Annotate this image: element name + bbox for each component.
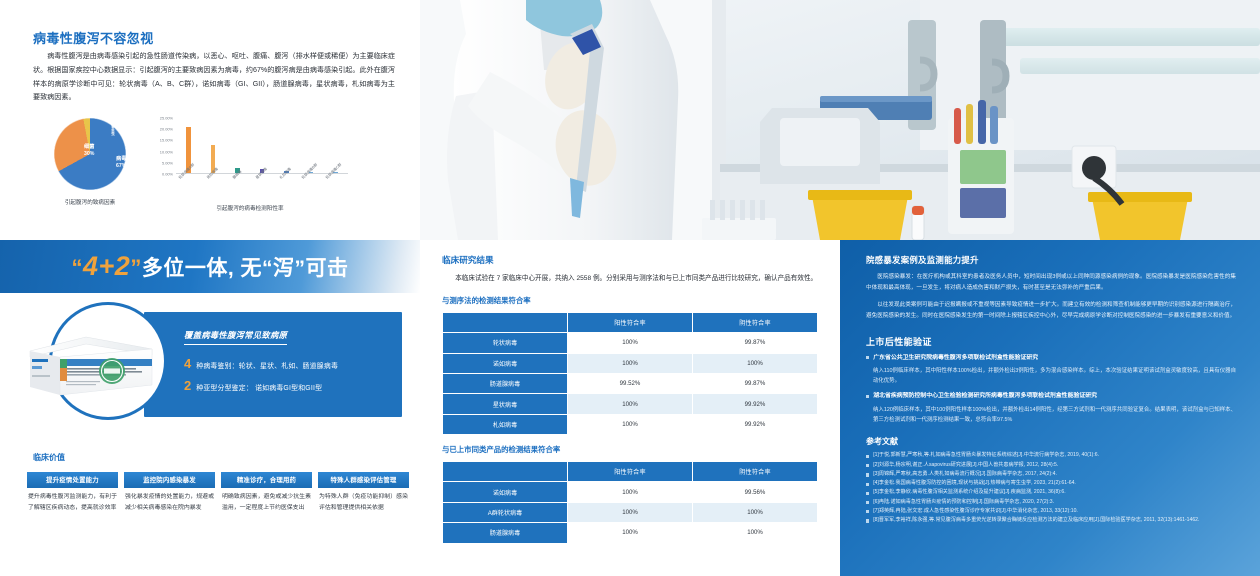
banner-quote-close-2: ”: [295, 257, 306, 280]
bar-chart-plot: [176, 118, 348, 174]
product-feature-number: 2: [184, 379, 191, 392]
table-row-header: 星状病毒: [443, 394, 567, 413]
pie-slice-label-bacteria: 细菌30%: [84, 144, 94, 157]
reference-text: [8]晋军军,李裕祥,陈永强,等.常见腹泻病毒多重荧光逆转录聚合酶链反应检测方法…: [873, 517, 1199, 525]
square-bullet-icon: [866, 510, 869, 513]
table-cell-negative: 100%: [693, 503, 817, 522]
validation-heading: 广东省公共卫生研究院病毒性腹泻多项联检试剂盒性能验证研究: [873, 354, 1038, 363]
headline-banner: “4+2”多位一体, 无“泻”可击: [0, 240, 420, 293]
reference-item: [3]周锦辉,严寒秋,高志勇.人类札如病毒流行概况[J].国际病毒学杂志, 20…: [866, 471, 1236, 479]
table-row-header: 肠道腺病毒: [443, 523, 567, 542]
bar-chart-x-label-cell: 腺病毒: [230, 176, 244, 202]
clinical-value-card-body: 提升病毒性腹泻监测能力，有利于了解辖区疾病动态，提高就诊效率: [27, 488, 118, 514]
validation-bullet-row: 广东省公共卫生研究院病毒性腹泻多项联检试剂盒性能验证研究: [866, 354, 1236, 363]
product-feature-row: 2 种亚型分型鉴定： 诺如病毒GI型和GII型: [184, 379, 322, 392]
clinical-value-card-header: 监控院内感染暴发: [124, 472, 215, 488]
square-bullet-icon: [866, 395, 869, 398]
table-cell-positive: 100%: [568, 503, 692, 522]
article-body: 病毒性腹泻是由病毒感染引起的急性肠道传染病，以恶心、呕吐、腹痛、腹泻（排水样便或…: [33, 50, 395, 105]
bar-chart-caption: 引起腹泻的病毒检测阳性率: [150, 204, 350, 212]
clinical-results-panel: 临床研究结果 本临床试验在 7 家临床中心开展，共纳入 2558 例。分别采用与…: [420, 240, 840, 576]
clinical-value-card: 监控院内感染暴发强化暴发疫情的处置能力，规避或减少相关病毒感染在院内暴发: [124, 472, 215, 514]
bar-chart-column: [206, 118, 220, 173]
table-cell-negative: 99.56%: [693, 482, 817, 501]
pie-slice-label-virus: 病毒67%: [116, 156, 126, 169]
validation-body: 纳入110例临床样本，其中阳性样本100%检出，并额外检出3例阳性，多为混合感染…: [873, 366, 1236, 386]
product-feature-number: 4: [184, 357, 191, 370]
validation-item: 湖北省疾病预防控制中心卫生检验检测研究所病毒性腹泻多项联检试剂盒性能验证研究纳入…: [866, 392, 1236, 425]
table-row-header: 轮状病毒: [443, 333, 567, 352]
bar-chart-y-axis: 0.00%5.00%10.00%15.00%20.00%25.00%: [150, 118, 174, 174]
table-row: 诺如病毒100%100%: [443, 354, 817, 373]
hai-paragraph-1: 医院感染暴发：在医疗机构或其科室的患者及医务人员中，短时间出现3例或以上同种同源…: [866, 272, 1236, 294]
table-header-row: 阳性符合率阴性符合率: [443, 462, 817, 481]
bar-chart-y-tick: 5.00%: [162, 160, 173, 165]
table-cell-positive: 100%: [568, 394, 692, 413]
clinical-value-card-body: 为特殊人群（免疫功能抑制）感染评估和管理提供相关依据: [318, 488, 409, 514]
square-bullet-icon: [866, 356, 869, 359]
table-row: A群轮状病毒100%100%: [443, 503, 817, 522]
table-row-header: 诺如病毒: [443, 482, 567, 501]
square-bullet-icon: [866, 455, 869, 458]
square-bullet-icon: [866, 464, 869, 467]
table-row-header: 诺如病毒: [443, 354, 567, 373]
reference-text: [6]冉陆.诺如病毒急性胃肠炎疫情的预防和控制[J].国际病毒学杂志, 2020…: [873, 499, 1054, 507]
banner-plus: +: [99, 251, 115, 281]
table-cell-positive: 100%: [568, 415, 692, 434]
table-row: 肠道腺病毒100%100%: [443, 523, 817, 542]
validation-title: 上市后性能验证: [866, 335, 1236, 348]
validation-bullet-row: 湖北省疾病预防控制中心卫生检验检测研究所病毒性腹泻多项联检试剂盒性能验证研究: [866, 392, 1236, 401]
pie-chart-caption: 引起腹泻的致病因素: [32, 198, 148, 206]
bar-chart-column: [230, 118, 244, 173]
square-bullet-icon: [866, 519, 869, 522]
hai-panel: 院感暴发案例及监测能力提升 医院感染暴发：在医疗机构或其科室的患者及医务人员中，…: [840, 240, 1260, 576]
table-cell-negative: 99.92%: [693, 394, 817, 413]
clinical-value-card: 特殊人群感染评估管理为特殊人群（免疫功能抑制）感染评估和管理提供相关依据: [318, 472, 409, 514]
table-cell-negative: 100%: [693, 354, 817, 373]
table-row: 肠道腺病毒99.52%99.87%: [443, 374, 817, 393]
reference-text: [5]李金松,李静欣.病毒性腹泻相关监测系统介绍及提升建议[J].疾病监测, 2…: [873, 489, 1065, 497]
table-cell-positive: 100%: [568, 354, 692, 373]
table-corner-cell: [443, 313, 567, 332]
clinical-value-card-body: 明确致病因素，避免或减少抗生素滥用，一定程度上节约医保支出: [221, 488, 312, 514]
clinical-value-cards: 提升疫情处置能力提升病毒性腹泻监测能力，有利于了解辖区疾病动态，提高就诊效率监控…: [27, 472, 412, 514]
validation-body: 纳入120例临床样本，其中100例阳性样本100%检出，并额外检出14例阳性，经…: [873, 405, 1236, 425]
table-column-header: 阳性符合率: [568, 313, 692, 332]
pie-slice-label-parasite: 寄生虫: [110, 125, 113, 135]
sequencing-concordance-table: 阳性符合率阴性符合率轮状病毒100%99.87%诺如病毒100%100%肠道腺病…: [442, 312, 818, 435]
clinical-value-card-header: 精准诊疗，合理用药: [221, 472, 312, 488]
references-title: 参考文献: [866, 436, 1236, 447]
product-feature-row: 4 种病毒鉴别：轮状、星状、札如、肠道腺病毒: [184, 357, 338, 370]
reference-item: [7]郑英辉,冉陆,张文宏.成人急性感染性腹泻诊疗专家共识[J].中华消化杂志,…: [866, 508, 1236, 516]
table-header-row: 阳性符合率阴性符合率: [443, 313, 817, 332]
laboratory-photo: [420, 0, 1260, 240]
banner-rest-b: 可击: [306, 257, 349, 280]
bar-chart-x-label-cell: 札如病毒: [280, 176, 294, 202]
bar-chart-column: [280, 118, 294, 173]
reference-text: [7]郑英辉,冉陆,张文宏.成人急性感染性腹泻诊疗专家共识[J].中华消化杂志,…: [873, 508, 1078, 516]
bar-chart-y-tick: 15.00%: [160, 138, 173, 143]
clinical-value-card-body: 强化暴发疫情的处置能力，规避或减少相关病毒感染在院内暴发: [124, 488, 215, 514]
product-feature-text: 种亚型分型鉴定： 诺如病毒GI型和GII型: [196, 382, 322, 392]
clinical-results-title: 临床研究结果: [442, 254, 818, 266]
table-cell-positive: 100%: [568, 523, 692, 542]
table-row-header: A群轮状病毒: [443, 503, 567, 522]
bar-chart-x-label-cell: 诺如病毒: [206, 176, 220, 202]
bar-chart-x-label-cell: 星状病毒: [255, 176, 269, 202]
banner-text: “4+2”多位一体, 无“泻”可击: [71, 251, 348, 282]
bar-chart: 0.00%5.00%10.00%15.00%20.00%25.00% 轮状病毒A…: [150, 118, 350, 214]
reference-list: [1]于悦,郭新慧,严寒秋,等.札如病毒急性胃肠炎暴发特征系统综述[J].中华流…: [866, 452, 1236, 524]
pie-chart: 病毒67% 细菌30% 寄生虫 引起腹泻的致病因素: [32, 118, 148, 214]
bar-chart-x-label-cell: 轮状病毒B群: [304, 176, 318, 202]
table-row: 诺如病毒100%99.56%: [443, 482, 817, 501]
table-cell-negative: 99.87%: [693, 374, 817, 393]
validation-item: 广东省公共卫生研究院病毒性腹泻多项联检试剂盒性能验证研究纳入110例临床样本，其…: [866, 354, 1236, 387]
reference-item: [2]刘源华,杨宗明,谢正.人sapovirus研究进展[J].中国人兽共患病学…: [866, 462, 1236, 470]
clinical-value-card-header: 特殊人群感染评估管理: [318, 472, 409, 488]
clinical-value-card: 提升疫情处置能力提升病毒性腹泻监测能力，有利于了解辖区疾病动态，提高就诊效率: [27, 472, 118, 514]
table-column-header: 阴性符合率: [693, 462, 817, 481]
reference-item: [5]李金松,李静欣.病毒性腹泻相关监测系统介绍及提升建议[J].疾病监测, 2…: [866, 489, 1236, 497]
reference-item: [1]于悦,郭新慧,严寒秋,等.札如病毒急性胃肠炎暴发特征系统综述[J].中华流…: [866, 452, 1236, 460]
bar-chart-y-tick: 25.00%: [160, 116, 173, 121]
pie-chart-graphic: 病毒67% 细菌30% 寄生虫: [54, 118, 126, 190]
banner-rest-a: 多位一体, 无: [142, 257, 262, 280]
table-cell-positive: 100%: [568, 482, 692, 501]
table-column-header: 阴性符合率: [693, 313, 817, 332]
hai-paragraph-2: 以往发现此类案例可能由于迟报瞒报或不重视等因素导致疫情进一步扩大。而建立有效的检…: [866, 300, 1236, 322]
reference-text: [1]于悦,郭新慧,严寒秋,等.札如病毒急性胃肠炎暴发特征系统综述[J].中华流…: [873, 452, 1099, 460]
reference-text: [4]李金松.我国病毒性腹泻防控的困境,现状与挑战[J].热带病与寄生虫学, 2…: [873, 480, 1076, 488]
bar-chart-y-tick: 10.00%: [160, 149, 173, 154]
table-cell-negative: 99.87%: [693, 333, 817, 352]
bar-chart-x-axis: 轮状病毒A群诺如病毒腺病毒星状病毒札如病毒轮状病毒B群轮状病毒C群: [176, 176, 348, 202]
bar-chart-x-label-cell: 轮状病毒C群: [329, 176, 343, 202]
validation-heading: 湖北省疾病预防控制中心卫生检验检测研究所病毒性腹泻多项联检试剂盒性能验证研究: [873, 392, 1097, 401]
table-row: 轮状病毒100%99.87%: [443, 333, 817, 352]
banner-quote-open: “: [71, 255, 83, 280]
square-bullet-icon: [866, 473, 869, 476]
article-panel: 病毒性腹泻不容忽视 病毒性腹泻是由病毒感染引起的急性肠道传染病，以恶心、呕吐、腹…: [0, 0, 420, 240]
table-cell-negative: 99.92%: [693, 415, 817, 434]
clinical-value-card-header: 提升疫情处置能力: [27, 472, 118, 488]
product-feature-text: 种病毒鉴别：轮状、星状、札如、肠道腺病毒: [196, 360, 338, 370]
banner-quote-close: ”: [130, 255, 142, 280]
table-cell-positive: 99.52%: [568, 374, 692, 393]
banner-number-4: 4: [83, 251, 99, 281]
table-cell-positive: 100%: [568, 333, 692, 352]
square-bullet-icon: [866, 501, 869, 504]
square-bullet-icon: [866, 492, 869, 495]
product-panel: 覆盖病毒性腹泻常见致病原 4 种病毒鉴别：轮状、星状、札如、肠道腺病毒 2 种亚…: [24, 305, 402, 425]
table-cell-negative: 100%: [693, 523, 817, 542]
banner-number-2: 2: [115, 251, 131, 281]
square-bullet-icon: [866, 483, 869, 486]
reference-text: [3]周锦辉,严寒秋,高志勇.人类札如病毒流行概况[J].国际病毒学杂志, 20…: [873, 471, 1057, 479]
bar-chart-y-tick: 0.00%: [162, 172, 173, 177]
table-column-header: 阳性符合率: [568, 462, 692, 481]
clinical-value-title: 临床价值: [33, 452, 65, 463]
reference-text: [2]刘源华,杨宗明,谢正.人sapovirus研究进展[J].中国人兽共患病学…: [873, 462, 1058, 470]
comparator-concordance-table: 阳性符合率阴性符合率诺如病毒100%99.56%A群轮状病毒100%100%肠道…: [442, 461, 818, 544]
table-row: 札如病毒100%99.92%: [443, 415, 817, 434]
table-corner-cell: [443, 462, 567, 481]
reference-item: [8]晋军军,李裕祥,陈永强,等.常见腹泻病毒多重荧光逆转录聚合酶链反应检测方法…: [866, 517, 1236, 525]
page-title: 病毒性腹泻不容忽视: [33, 28, 154, 47]
product-box-image: [26, 329, 156, 399]
table-row: 星状病毒100%99.92%: [443, 394, 817, 413]
validation-list: 广东省公共卫生研究院病毒性腹泻多项联检试剂盒性能验证研究纳入110例临床样本，其…: [866, 354, 1236, 426]
clinical-value-card: 精准诊疗，合理用药明确致病因素，避免或减少抗生素滥用，一定程度上节约医保支出: [221, 472, 312, 514]
bar-chart-x-label-cell: 轮状病毒A群: [181, 176, 195, 202]
table2-title: 与已上市同类产品的检测结果符合率: [442, 444, 818, 455]
banner-quote-open-2: “: [262, 257, 273, 280]
reference-item: [4]李金松.我国病毒性腹泻防控的困境,现状与挑战[J].热带病与寄生虫学, 2…: [866, 480, 1236, 488]
reference-item: [6]冉陆.诺如病毒急性胃肠炎疫情的预防和控制[J].国际病毒学杂志, 2020…: [866, 499, 1236, 507]
bar-chart-y-tick: 20.00%: [160, 127, 173, 132]
table-row-header: 札如病毒: [443, 415, 567, 434]
bar-chart-column: [255, 118, 269, 173]
brochure-page: 病毒性腹泻不容忽视 病毒性腹泻是由病毒感染引起的急性肠道传染病，以恶心、呕吐、腹…: [0, 0, 1260, 576]
table1-title: 与测序法的检测结果符合率: [442, 295, 818, 306]
clinical-results-paragraph: 本临床试验在 7 家临床中心开展，共纳入 2558 例。分别采用与测序法和与已上…: [442, 273, 818, 286]
banner-word-xie: 泻: [273, 257, 295, 280]
table-row-header: 肠道腺病毒: [443, 374, 567, 393]
product-heading: 覆盖病毒性腹泻常见致病原: [184, 329, 287, 345]
hai-title: 院感暴发案例及监测能力提升: [866, 254, 1236, 266]
